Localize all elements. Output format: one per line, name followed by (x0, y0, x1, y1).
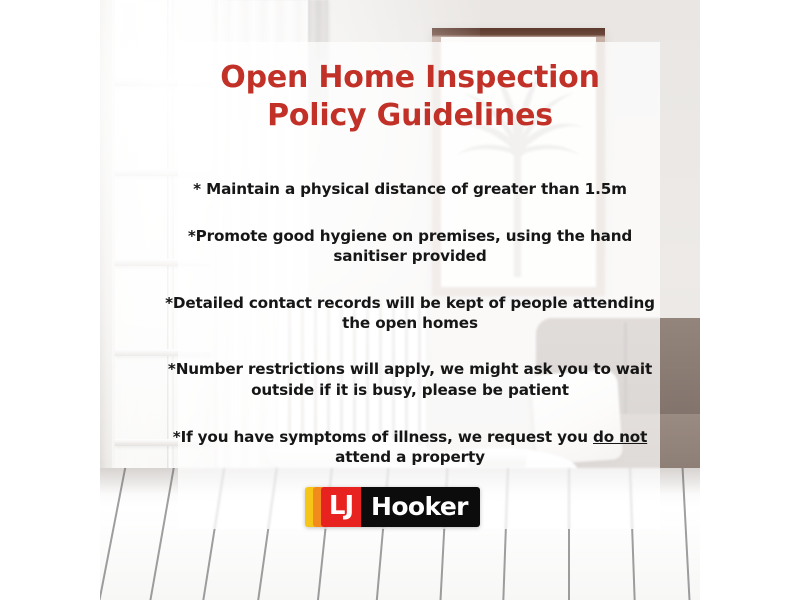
list-item: * Maintain a physical distance of greate… (150, 179, 670, 199)
lj-hooker-logo: LJ Hooker (305, 487, 480, 527)
poster-canvas: Open Home Inspection Policy Guidelines *… (0, 0, 800, 600)
list-item: *Detailed contact records will be kept o… (150, 293, 670, 334)
page-title: Open Home Inspection Policy Guidelines (150, 42, 670, 135)
title-line-1: Open Home Inspection (150, 59, 670, 97)
logo-block-red: LJ (321, 487, 361, 527)
poster-content: Open Home Inspection Policy Guidelines *… (150, 42, 670, 542)
logo-block-black: Hooker (361, 487, 480, 527)
logo-word-text: Hooker (371, 494, 468, 521)
last-bullet-underlined: do not (593, 428, 647, 446)
guideline-list: * Maintain a physical distance of greate… (150, 179, 670, 468)
title-line-2: Policy Guidelines (150, 97, 670, 135)
last-bullet-after: attend a property (335, 448, 485, 466)
logo-mark-text: LJ (329, 493, 353, 521)
list-item-with-emphasis: *If you have symptoms of illness, we req… (150, 427, 670, 468)
list-item: *Promote good hygiene on premises, using… (150, 226, 670, 267)
list-item: *Number restrictions will apply, we migh… (150, 359, 670, 400)
last-bullet-before: *If you have symptoms of illness, we req… (173, 428, 593, 446)
